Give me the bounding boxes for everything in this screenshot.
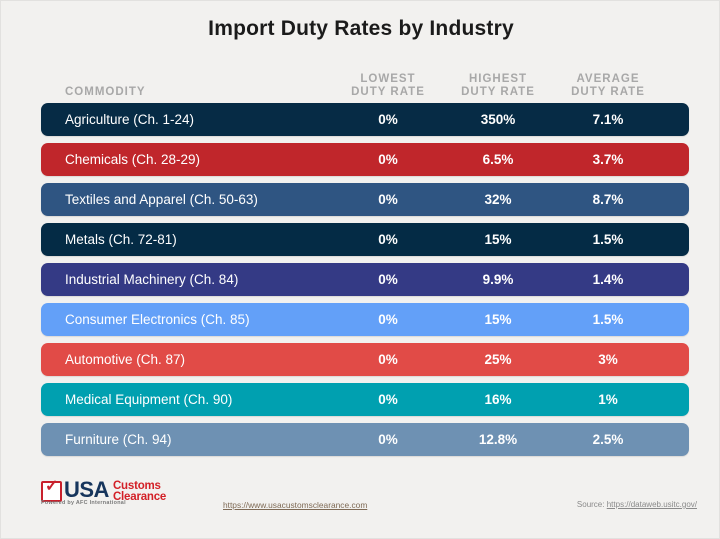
logo-usa-text: USA bbox=[64, 480, 109, 500]
cell-commodity: Agriculture (Ch. 1-24) bbox=[65, 112, 333, 127]
table-row: Industrial Machinery (Ch. 84) 0% 9.9% 1.… bbox=[41, 263, 689, 296]
cell-average-duty-rate: 1.4% bbox=[553, 272, 663, 287]
cell-average-duty-rate: 2.5% bbox=[553, 432, 663, 447]
table-row: Agriculture (Ch. 1-24) 0% 350% 7.1% bbox=[41, 103, 689, 136]
column-header-highest-duty-rate: HIGHEST DUTY RATE bbox=[443, 73, 553, 103]
cell-commodity: Automotive (Ch. 87) bbox=[65, 352, 333, 367]
column-header-lowest-line2: DUTY RATE bbox=[333, 86, 443, 99]
column-header-lowest-duty-rate: LOWEST DUTY RATE bbox=[333, 73, 443, 103]
column-header-average-line1: AVERAGE bbox=[576, 73, 639, 85]
cell-lowest-duty-rate: 0% bbox=[333, 232, 443, 247]
logo-customs-text: Customs bbox=[113, 481, 166, 492]
cell-average-duty-rate: 1.5% bbox=[553, 232, 663, 247]
cell-commodity: Furniture (Ch. 94) bbox=[65, 432, 333, 447]
cell-highest-duty-rate: 350% bbox=[443, 112, 553, 127]
column-header-average-line2: DUTY RATE bbox=[553, 86, 663, 99]
cell-lowest-duty-rate: 0% bbox=[333, 432, 443, 447]
cell-lowest-duty-rate: 0% bbox=[333, 192, 443, 207]
table-row: Automotive (Ch. 87) 0% 25% 3% bbox=[41, 343, 689, 376]
table-header-row: COMMODITY LOWEST DUTY RATE HIGHEST DUTY … bbox=[41, 61, 689, 103]
column-header-lowest-line1: LOWEST bbox=[360, 73, 415, 85]
column-header-highest-line1: HIGHEST bbox=[469, 73, 527, 85]
cell-highest-duty-rate: 6.5% bbox=[443, 152, 553, 167]
footer: ✓ USA Customs Clearance Powered by AFC I… bbox=[41, 478, 697, 522]
checkmark-icon: ✓ bbox=[41, 481, 62, 502]
column-header-average-duty-rate: AVERAGE DUTY RATE bbox=[553, 73, 663, 103]
column-header-commodity: COMMODITY bbox=[65, 86, 333, 103]
cell-highest-duty-rate: 15% bbox=[443, 312, 553, 327]
table-row: Medical Equipment (Ch. 90) 0% 16% 1% bbox=[41, 383, 689, 416]
source-label: Source: bbox=[577, 500, 605, 509]
cell-commodity: Consumer Electronics (Ch. 85) bbox=[65, 312, 333, 327]
cell-commodity: Chemicals (Ch. 28-29) bbox=[65, 152, 333, 167]
cell-highest-duty-rate: 12.8% bbox=[443, 432, 553, 447]
table-row: Textiles and Apparel (Ch. 50-63) 0% 32% … bbox=[41, 183, 689, 216]
table-row: Chemicals (Ch. 28-29) 0% 6.5% 3.7% bbox=[41, 143, 689, 176]
cell-commodity: Industrial Machinery (Ch. 84) bbox=[65, 272, 333, 287]
source-credit: Source: https://dataweb.usitc.gov/ bbox=[577, 500, 697, 509]
cell-highest-duty-rate: 16% bbox=[443, 392, 553, 407]
cell-lowest-duty-rate: 0% bbox=[333, 112, 443, 127]
cell-highest-duty-rate: 25% bbox=[443, 352, 553, 367]
logo-wordmark: Customs Clearance bbox=[113, 480, 166, 502]
table-row: Metals (Ch. 72-81) 0% 15% 1.5% bbox=[41, 223, 689, 256]
duty-rates-table: COMMODITY LOWEST DUTY RATE HIGHEST DUTY … bbox=[41, 61, 689, 463]
cell-commodity: Metals (Ch. 72-81) bbox=[65, 232, 333, 247]
usa-customs-clearance-logo[interactable]: ✓ USA Customs Clearance bbox=[41, 480, 166, 502]
site-link[interactable]: https://www.usacustomsclearance.com bbox=[223, 500, 367, 510]
table-row: Consumer Electronics (Ch. 85) 0% 15% 1.5… bbox=[41, 303, 689, 336]
cell-highest-duty-rate: 15% bbox=[443, 232, 553, 247]
source-link[interactable]: https://dataweb.usitc.gov/ bbox=[607, 500, 697, 509]
cell-average-duty-rate: 3% bbox=[553, 352, 663, 367]
column-header-highest-line2: DUTY RATE bbox=[443, 86, 553, 99]
infographic-card: Import Duty Rates by Industry COMMODITY … bbox=[0, 0, 720, 539]
cell-highest-duty-rate: 9.9% bbox=[443, 272, 553, 287]
cell-highest-duty-rate: 32% bbox=[443, 192, 553, 207]
page-title: Import Duty Rates by Industry bbox=[1, 17, 720, 41]
cell-average-duty-rate: 1.5% bbox=[553, 312, 663, 327]
cell-lowest-duty-rate: 0% bbox=[333, 152, 443, 167]
cell-average-duty-rate: 1% bbox=[553, 392, 663, 407]
cell-average-duty-rate: 3.7% bbox=[553, 152, 663, 167]
cell-average-duty-rate: 7.1% bbox=[553, 112, 663, 127]
cell-commodity: Textiles and Apparel (Ch. 50-63) bbox=[65, 192, 333, 207]
table-row: Furniture (Ch. 94) 0% 12.8% 2.5% bbox=[41, 423, 689, 456]
logo-tagline: Powered by AFC International bbox=[41, 500, 126, 506]
cell-commodity: Medical Equipment (Ch. 90) bbox=[65, 392, 333, 407]
cell-average-duty-rate: 8.7% bbox=[553, 192, 663, 207]
cell-lowest-duty-rate: 0% bbox=[333, 312, 443, 327]
cell-lowest-duty-rate: 0% bbox=[333, 352, 443, 367]
cell-lowest-duty-rate: 0% bbox=[333, 272, 443, 287]
cell-lowest-duty-rate: 0% bbox=[333, 392, 443, 407]
